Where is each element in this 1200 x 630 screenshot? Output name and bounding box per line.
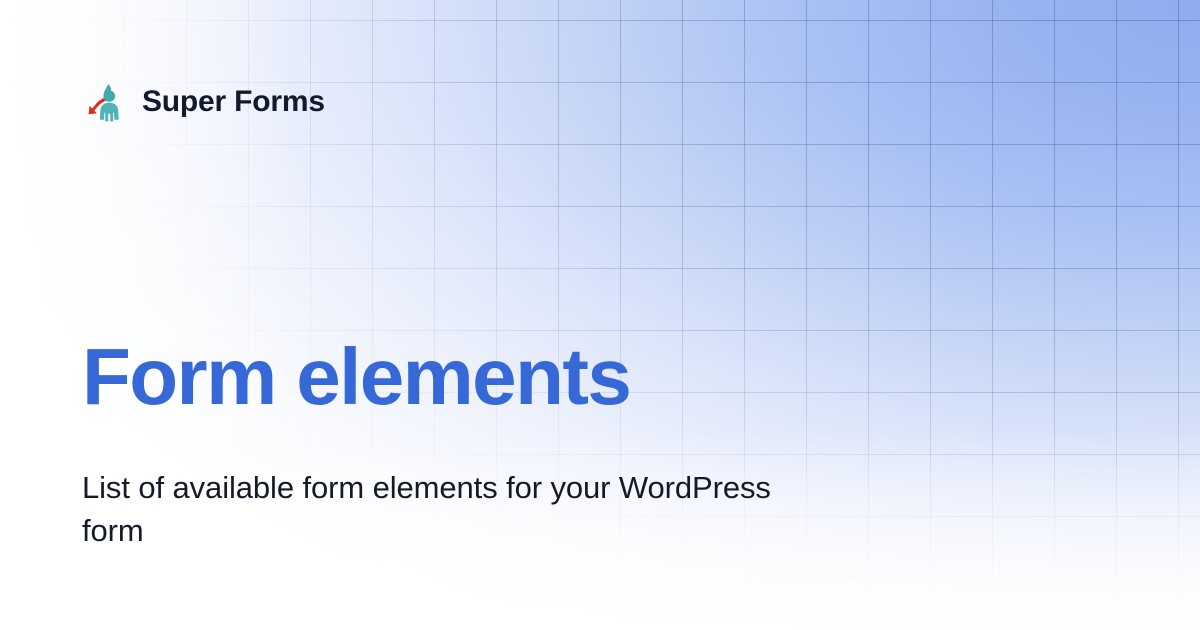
brand-row: Super Forms	[80, 79, 325, 125]
super-forms-logo-icon	[80, 79, 126, 125]
brand-name: Super Forms	[142, 87, 325, 117]
page-subtitle: List of available form elements for your…	[82, 466, 782, 552]
page-title: Form elements	[82, 337, 630, 417]
og-card: Super Forms Form elements List of availa…	[0, 0, 1200, 630]
